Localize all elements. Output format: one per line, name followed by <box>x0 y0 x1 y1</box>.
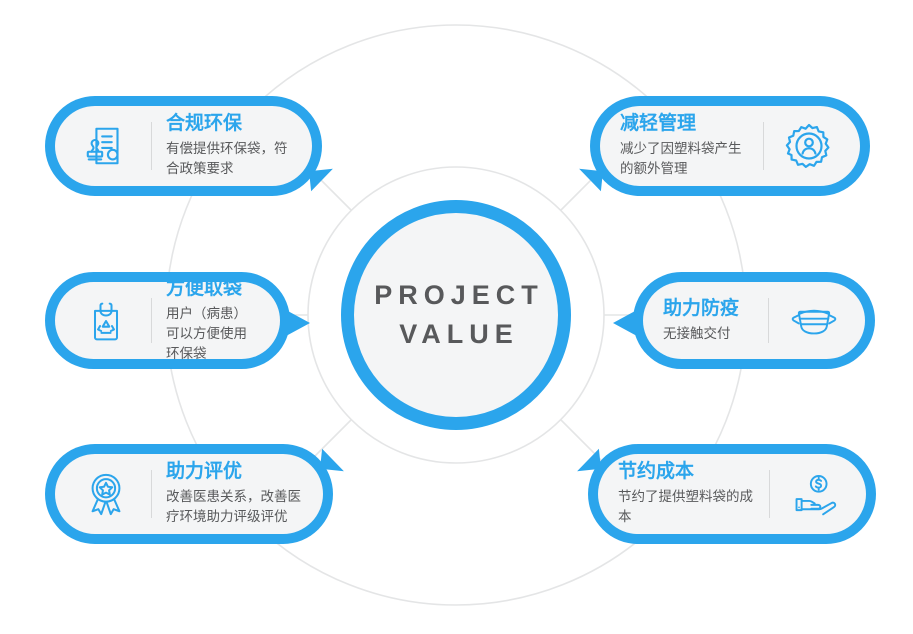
card-description: 无接触交付 <box>663 324 754 344</box>
card-management[interactable]: 减轻管理 减少了因塑料袋产生的额外管理 <box>590 96 870 196</box>
card-tail <box>309 169 335 191</box>
stamped-document-icon <box>75 123 137 169</box>
card-title: 助力评优 <box>166 460 303 484</box>
card-description: 减少了因塑料袋产生的额外管理 <box>620 139 749 180</box>
card-divider <box>151 470 152 518</box>
card-cost[interactable]: 节约成本 节约了提供塑料袋的成本 <box>588 444 876 544</box>
center-hub-label: PROJECT VALUE <box>368 276 544 354</box>
card-tail <box>613 310 637 336</box>
card-description: 节约了提供塑料袋的成本 <box>618 487 755 528</box>
project-value-diagram: PROJECT VALUE 合规环保 有偿提供环保袋，符合政策要求 <box>0 0 913 634</box>
card-description: 有偿提供环保袋，符合政策要求 <box>166 139 292 180</box>
gear-person-icon <box>778 122 840 170</box>
card-divider <box>763 122 764 170</box>
card-title: 减轻管理 <box>620 112 749 136</box>
card-title: 助力防疫 <box>663 297 754 321</box>
card-tail <box>575 449 601 471</box>
card-description: 用户（病患）可以方便使用环保袋 <box>166 304 260 365</box>
card-compliance[interactable]: 合规环保 有偿提供环保袋，符合政策要求 <box>45 96 322 196</box>
face-mask-icon <box>783 299 845 343</box>
hand-dollar-icon <box>784 472 846 516</box>
card-title: 方便取袋 <box>166 277 260 301</box>
card-divider <box>151 298 152 343</box>
center-hub: PROJECT VALUE <box>341 200 571 430</box>
card-divider <box>768 298 769 343</box>
card-divider <box>769 470 770 518</box>
center-line-1: PROJECT <box>368 276 544 315</box>
award-medal-icon <box>75 471 137 517</box>
recycle-bag-icon <box>75 299 137 343</box>
card-tail <box>286 310 310 336</box>
card-epidemic[interactable]: 助力防疫 无接触交付 <box>633 272 875 369</box>
center-line-2: VALUE <box>368 315 544 354</box>
card-tail <box>577 169 603 191</box>
card-divider <box>151 122 152 170</box>
card-title: 节约成本 <box>618 460 755 484</box>
card-tail <box>320 449 346 471</box>
card-description: 改善医患关系，改善医疗环境助力评级评优 <box>166 487 303 528</box>
card-convenience[interactable]: 方便取袋 用户（病患）可以方便使用环保袋 <box>45 272 290 369</box>
card-evaluation[interactable]: 助力评优 改善医患关系，改善医疗环境助力评级评优 <box>45 444 333 544</box>
card-title: 合规环保 <box>166 112 292 136</box>
